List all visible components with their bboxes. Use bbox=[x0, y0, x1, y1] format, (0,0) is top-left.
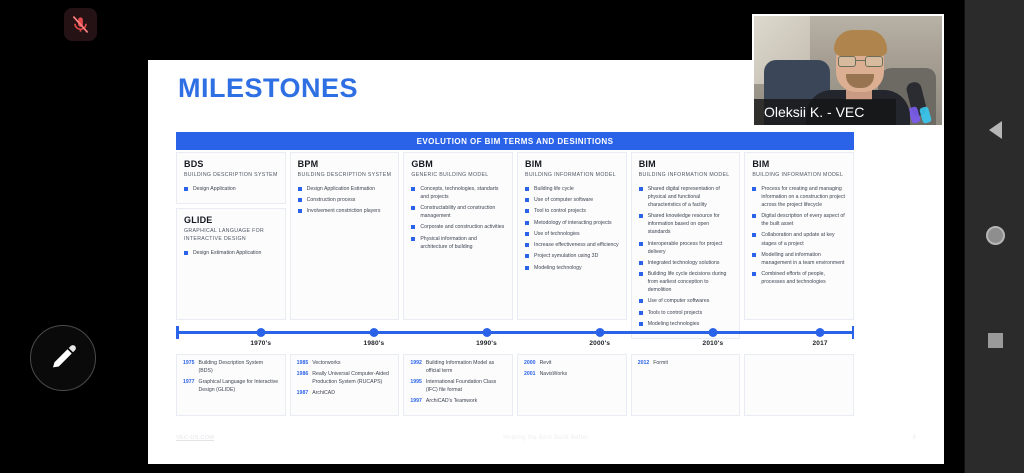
milestone-text: ArchiCAD's Teamwork bbox=[426, 398, 477, 406]
milestone-year: 1987 bbox=[297, 390, 309, 398]
milestone-card: 2012Formit bbox=[631, 354, 741, 416]
term-bullet: Corporate and construction activities bbox=[411, 223, 505, 231]
milestone-item: 2000Revit bbox=[524, 360, 620, 368]
term-card: BIMBUILDING INFORMATION MODELBuilding li… bbox=[517, 152, 627, 320]
term-card-code: GLIDE bbox=[184, 215, 278, 225]
page-title: MILESTONES bbox=[178, 73, 358, 104]
timeline-label: 2017 bbox=[812, 340, 827, 347]
milestone-text: ArchiCAD bbox=[312, 390, 335, 398]
term-bullet: Digital description of every aspect of t… bbox=[752, 212, 846, 228]
timeline-node bbox=[708, 328, 717, 337]
nav-back-button[interactable] bbox=[965, 108, 1024, 152]
timeline-label: 2010's bbox=[703, 340, 724, 347]
term-bullet: Modeling technology bbox=[525, 264, 619, 272]
milestone-text: Really Universal Computer-Aided Producti… bbox=[312, 371, 392, 387]
milestone-card: 1975Building Description System (BDS)197… bbox=[176, 354, 286, 416]
section-band-title: EVOLUTION OF BIM TERMS AND DESINITIONS bbox=[176, 132, 854, 150]
milestone-item: 1985Vectorworks bbox=[297, 360, 393, 368]
term-card-bullets: Process for creating and managing inform… bbox=[752, 185, 846, 286]
term-bullet: Shared digital representation of physica… bbox=[639, 185, 733, 209]
milestone-year: 1992 bbox=[410, 360, 422, 376]
term-bullet: Shared knowledge resource for informatio… bbox=[639, 212, 733, 236]
term-bullet: Use of technologies bbox=[525, 230, 619, 238]
term-card-bullets: Building life cycleUse of computer softw… bbox=[525, 185, 619, 272]
term-bullet: Building life cycle bbox=[525, 185, 619, 193]
term-card-bullets: Concepts, technologies, standarts and pr… bbox=[411, 185, 505, 251]
milestone-year: 1986 bbox=[297, 371, 309, 387]
term-card-code: BIM bbox=[639, 159, 733, 169]
term-card: GBMGENERIC BUILDING MODELConcepts, techn… bbox=[403, 152, 513, 320]
milestone-text: Formit bbox=[653, 360, 668, 368]
milestone-text: Vectorworks bbox=[312, 360, 340, 368]
term-card-code: BDS bbox=[184, 159, 278, 169]
microphone-muted-button[interactable] bbox=[64, 8, 97, 41]
participant-video-tile[interactable]: Oleksii K. - VEC bbox=[752, 14, 944, 127]
term-bullet: Tools to control projects bbox=[639, 309, 733, 317]
milestone-item: 1977Graphical Language for Interactive D… bbox=[183, 379, 279, 395]
term-bullet: Integrated technology solutions bbox=[639, 259, 733, 267]
right-gutter bbox=[944, 0, 964, 473]
timeline-axis bbox=[176, 331, 854, 334]
home-circle-icon bbox=[986, 226, 1005, 245]
term-card-subtitle: BUILDING INFORMATION MODEL bbox=[525, 172, 619, 180]
term-bullet: Involvement constriction players bbox=[298, 207, 392, 215]
milestone-item: 1992Building Information Model as offici… bbox=[410, 360, 506, 376]
term-column: BDSBUILDING DESCRIPTION SYSTEMDesign App… bbox=[176, 152, 286, 320]
video-person-hair bbox=[834, 30, 887, 56]
video-person-glasses bbox=[838, 56, 883, 67]
term-card: BIMBUILDING INFORMATION MODELProcess for… bbox=[744, 152, 854, 320]
timeline-label: 1990's bbox=[476, 340, 497, 347]
term-column: BPMBUILDING DESCRIPTION SYSTEMDesign App… bbox=[290, 152, 400, 320]
participant-name-label: Oleksii K. - VEC bbox=[754, 99, 896, 125]
term-card-subtitle: GRAPHICAL LANGUAGE FOR INTERACTIVE DESIG… bbox=[184, 228, 278, 244]
term-bullet: Collaboration and update at key stages o… bbox=[752, 231, 846, 247]
milestone-text: International Foundation Class (IFC) fil… bbox=[426, 379, 506, 395]
timeline-label: 2000's bbox=[589, 340, 610, 347]
milestone-item: 1997ArchiCAD's Teamwork bbox=[410, 398, 506, 406]
timeline-end-cap bbox=[852, 326, 855, 339]
term-card-bullets: Design Application bbox=[184, 185, 278, 193]
term-bullet: Metodology of interacting projects bbox=[525, 219, 619, 227]
footer-page-number: 6 bbox=[913, 435, 916, 441]
term-column: BIMBUILDING INFORMATION MODELBuilding li… bbox=[517, 152, 627, 320]
milestone-card: 2000Revit2001NavisWorks bbox=[517, 354, 627, 416]
milestone-text: NavisWorks bbox=[540, 371, 568, 379]
milestone-card bbox=[744, 354, 854, 416]
milestone-text: Building Information Model as official t… bbox=[426, 360, 506, 376]
milestone-item: 2012Formit bbox=[638, 360, 734, 368]
milestone-year: 1985 bbox=[297, 360, 309, 368]
term-card-subtitle: BUILDING DESCRIPTION SYSTEM bbox=[184, 172, 278, 180]
recents-square-icon bbox=[988, 333, 1003, 348]
left-control-strip bbox=[0, 0, 148, 473]
milestone-item: 1995International Foundation Class (IFC)… bbox=[410, 379, 506, 395]
term-bullet: Use of computer softwares bbox=[639, 297, 733, 305]
milestone-item: 1975Building Description System (BDS) bbox=[183, 360, 279, 376]
term-card-subtitle: BUILDING INFORMATION MODEL bbox=[752, 172, 846, 180]
term-card-subtitle: BUILDING INFORMATION MODEL bbox=[639, 172, 733, 180]
screen-share-viewer: MILESTONES EVOLUTION OF BIM TERMS AND DE… bbox=[0, 0, 1024, 473]
term-card-code: BIM bbox=[525, 159, 619, 169]
milestone-year: 1997 bbox=[410, 398, 422, 406]
term-bullet: Use of computer software bbox=[525, 196, 619, 204]
milestone-year: 1995 bbox=[410, 379, 422, 395]
term-column: GBMGENERIC BUILDING MODELConcepts, techn… bbox=[403, 152, 513, 320]
milestone-item: 1986Really Universal Computer-Aided Prod… bbox=[297, 371, 393, 387]
milestone-year: 2001 bbox=[524, 371, 536, 379]
term-column: BIMBUILDING INFORMATION MODELShared digi… bbox=[631, 152, 741, 320]
term-bullet: Design Application bbox=[184, 185, 278, 193]
timeline: 1970's1980's1990's2000's2010's2017 bbox=[176, 324, 854, 352]
timeline-label: 1970's bbox=[250, 340, 271, 347]
term-bullet: Process for creating and managing inform… bbox=[752, 185, 846, 209]
term-bullet: Building life cycle decisions during fro… bbox=[639, 270, 733, 294]
term-card-bullets: Shared digital representation of physica… bbox=[639, 185, 733, 328]
timeline-label: 1980's bbox=[364, 340, 385, 347]
milestone-card: 1985Vectorworks1986Really Universal Comp… bbox=[290, 354, 400, 416]
nav-home-button[interactable] bbox=[965, 213, 1024, 257]
term-bullet: Combined efforts of people, processes an… bbox=[752, 270, 846, 286]
android-navigation-bar bbox=[964, 0, 1024, 473]
term-bullet: Physical information and architecture of… bbox=[411, 235, 505, 251]
milestone-item: 1987ArchiCAD bbox=[297, 390, 393, 398]
term-bullet: Interoperable process for project delive… bbox=[639, 240, 733, 256]
term-card-code: BPM bbox=[298, 159, 392, 169]
term-bullet: Project symulation using 3D bbox=[525, 252, 619, 260]
term-bullet: Increase effectiveness and efficiency bbox=[525, 241, 619, 249]
term-bullet: Constructability and construction manage… bbox=[411, 204, 505, 220]
milestone-columns: 1975Building Description System (BDS)197… bbox=[176, 354, 854, 416]
term-card: BDSBUILDING DESCRIPTION SYSTEMDesign App… bbox=[176, 152, 286, 204]
annotate-pencil-button[interactable] bbox=[30, 325, 96, 391]
footer-tagline: Helping the Best Build Better bbox=[148, 435, 944, 441]
term-bullet: Design Estimation Application bbox=[184, 249, 278, 257]
term-card: BPMBUILDING DESCRIPTION SYSTEMDesign App… bbox=[290, 152, 400, 320]
milestone-text: Graphical Language for Interactive Desig… bbox=[199, 379, 279, 395]
term-card-bullets: Design Estimation Application bbox=[184, 249, 278, 257]
nav-recents-button[interactable] bbox=[965, 318, 1024, 362]
timeline-node bbox=[369, 328, 378, 337]
term-card: BIMBUILDING INFORMATION MODELShared digi… bbox=[631, 152, 741, 339]
milestone-year: 2012 bbox=[638, 360, 650, 368]
milestone-text: Revit bbox=[540, 360, 552, 368]
term-card-subtitle: BUILDING DESCRIPTION SYSTEM bbox=[298, 172, 392, 180]
milestone-item: 2001NavisWorks bbox=[524, 371, 620, 379]
milestone-year: 1975 bbox=[183, 360, 195, 376]
term-columns: BDSBUILDING DESCRIPTION SYSTEMDesign App… bbox=[176, 152, 854, 320]
term-bullet: Concepts, technologies, standarts and pr… bbox=[411, 185, 505, 201]
term-bullet: Design Application Estimation bbox=[298, 185, 392, 193]
term-bullet: Tool to control projects bbox=[525, 207, 619, 215]
microphone-muted-icon bbox=[71, 15, 90, 34]
back-triangle-icon bbox=[989, 121, 1002, 139]
term-card-bullets: Design Application EstimationConstructio… bbox=[298, 185, 392, 216]
timeline-node bbox=[595, 328, 604, 337]
term-card-code: BIM bbox=[752, 159, 846, 169]
milestone-year: 2000 bbox=[524, 360, 536, 368]
milestone-text: Building Description System (BDS) bbox=[199, 360, 279, 376]
milestone-card: 1992Building Information Model as offici… bbox=[403, 354, 513, 416]
term-card: GLIDEGRAPHICAL LANGUAGE FOR INTERACTIVE … bbox=[176, 208, 286, 320]
pencil-icon bbox=[48, 343, 78, 373]
term-card-code: GBM bbox=[411, 159, 505, 169]
timeline-node bbox=[816, 328, 825, 337]
term-column: BIMBUILDING INFORMATION MODELProcess for… bbox=[744, 152, 854, 320]
timeline-node bbox=[256, 328, 265, 337]
term-bullet: Construction process bbox=[298, 196, 392, 204]
timeline-node bbox=[482, 328, 491, 337]
term-bullet: Modelling and information management in … bbox=[752, 251, 846, 267]
term-card-subtitle: GENERIC BUILDING MODEL bbox=[411, 172, 505, 180]
milestone-year: 1977 bbox=[183, 379, 195, 395]
timeline-start-cap bbox=[176, 326, 179, 339]
